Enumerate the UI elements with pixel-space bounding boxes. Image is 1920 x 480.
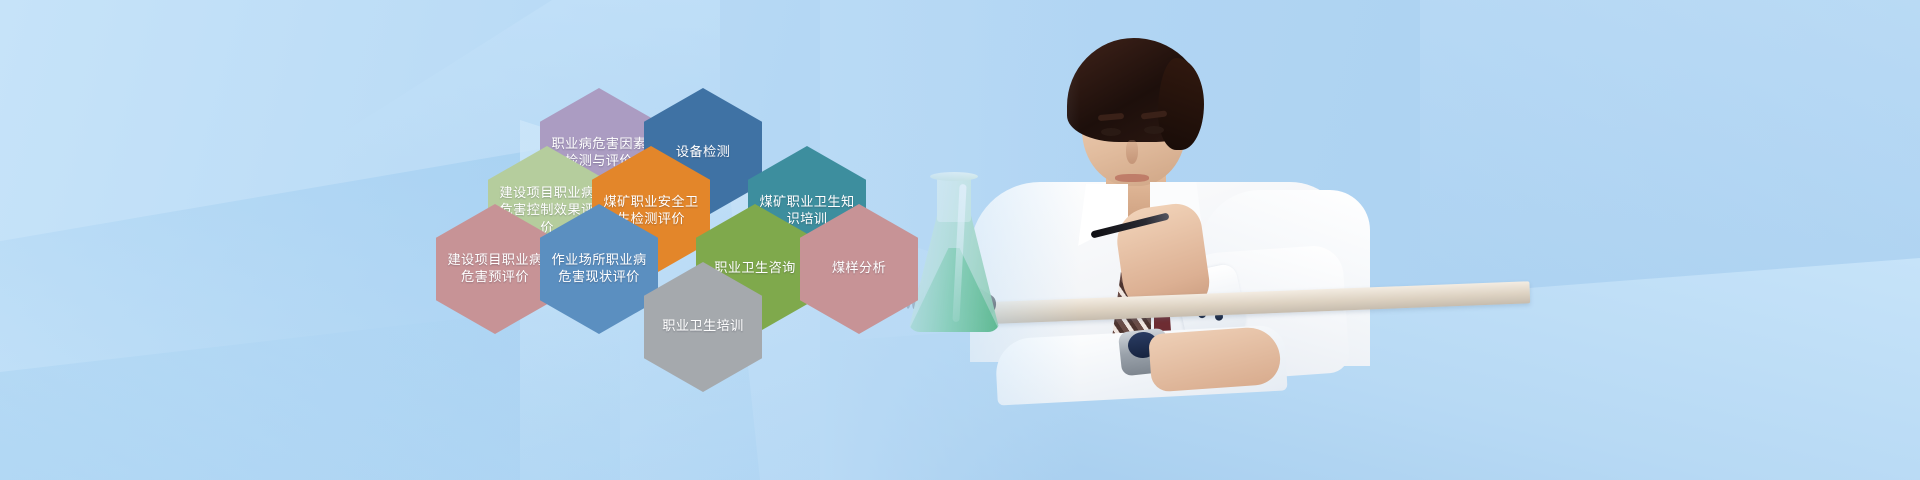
hexagon-label: 设备检测 [676,144,730,161]
eye-left [1101,128,1121,136]
hexagon-label: 职业卫生培训 [662,318,744,335]
hair-side [1158,58,1204,150]
banner-root: 职业病危害因素检测与评价设备检测煤矿职业卫生知识培训建设项目职业病危害控制效果评… [0,0,1920,480]
hexagon-label: 职业卫生咨询 [714,260,796,277]
eye-right [1144,126,1164,134]
hexagon-label: 煤样分析 [832,260,886,277]
lab-photo-composition [820,0,1920,480]
nose [1126,140,1138,164]
hexagon-label: 建设项目职业病危害预评价 [446,252,544,287]
hexagon-label: 作业场所职业病危害现状评价 [550,252,648,287]
hexagon-cluster: 职业病危害因素检测与评价设备检测煤矿职业卫生知识培训建设项目职业病危害控制效果评… [400,58,910,368]
hand-on-desk [1148,326,1282,393]
mouth [1115,174,1149,182]
